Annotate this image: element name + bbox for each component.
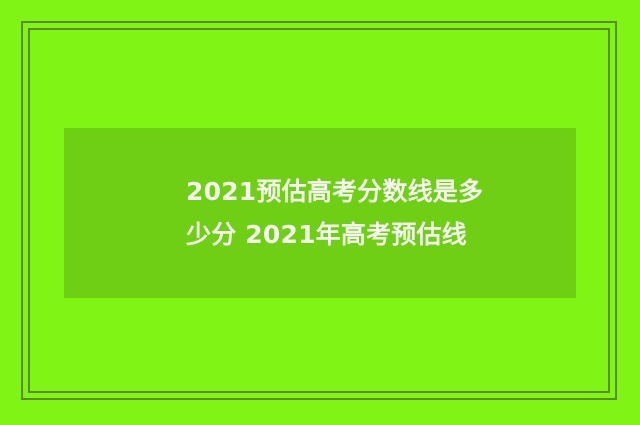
headline-line-2: 少分 2021年高考预估线 (186, 213, 558, 256)
poster-canvas: 2021预估高考分数线是多 少分 2021年高考预估线 (0, 0, 640, 425)
headline-line-1: 2021预估高考分数线是多 (186, 170, 558, 213)
headline-panel: 2021预估高考分数线是多 少分 2021年高考预估线 (64, 128, 576, 298)
